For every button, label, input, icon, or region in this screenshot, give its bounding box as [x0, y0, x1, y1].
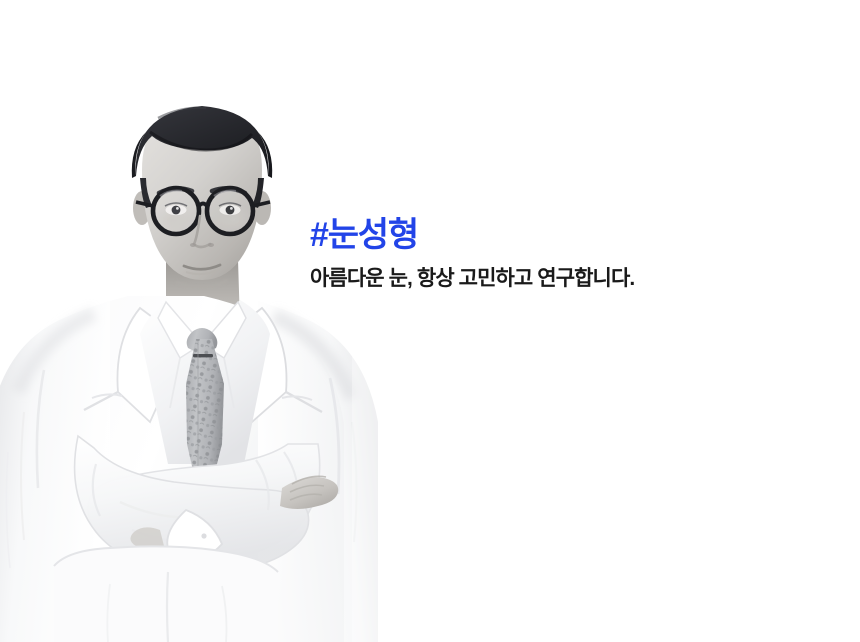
hero-headline: #눈성형 [310, 214, 780, 256]
hero-banner: #눈성형 아름다운 눈, 항상 고민하고 연구합니다. [0, 0, 860, 642]
hero-copy: #눈성형 아름다운 눈, 항상 고민하고 연구합니다. [310, 214, 780, 292]
hero-subline: 아름다운 눈, 항상 고민하고 연구합니다. [310, 266, 780, 292]
tie-clip [193, 354, 213, 357]
doctor-portrait [0, 92, 400, 642]
coat-lower [54, 546, 278, 642]
cuff-button [201, 533, 206, 538]
